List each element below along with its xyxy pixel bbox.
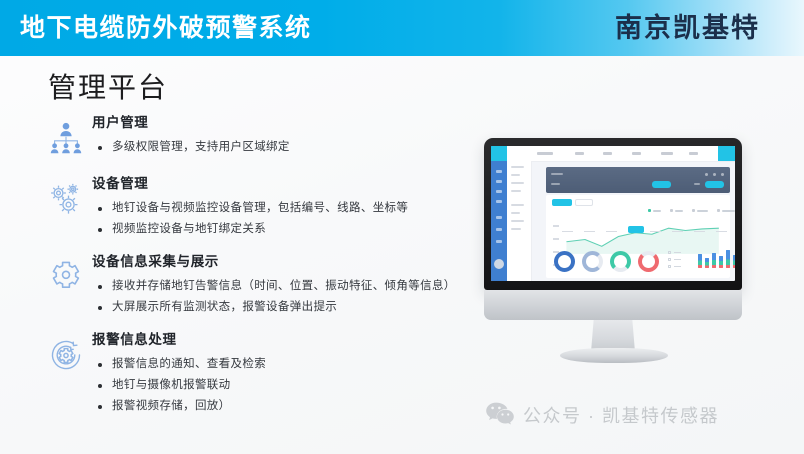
bullet-item: 地钉设备与视频监控设备管理，包括编号、线路、坐标等 [92, 198, 480, 219]
bullet-item: 报警视频存储，回放） [92, 396, 480, 417]
page-title: 管理平台 [48, 70, 168, 106]
feature-heading: 报警信息处理 [92, 330, 480, 349]
monitor-stand-base [560, 348, 668, 363]
bullet-item: 大屏展示所有监测状态，报警设备弹出提示 [92, 297, 480, 318]
org-chart-users-icon [40, 114, 92, 162]
dashboard-chart-panel [546, 195, 730, 278]
topbar-action-button [718, 146, 735, 161]
bullet-item: 多级权限管理，支持用户区域绑定 [92, 137, 480, 158]
feature-body: 设备管理 地钉设备与视频监控设备管理，包括编号、线路、坐标等 视频监控设备与地钉… [92, 173, 480, 240]
sidebar-nav-dot [496, 228, 502, 231]
monitor-chin [484, 290, 742, 320]
feature-list: 用户管理 多级权限管理，支持用户区域绑定 [40, 112, 480, 428]
chart-tooltip [628, 226, 644, 233]
feature-bullets: 报警信息的通知、查看及检索 地钉与摄像机报警联动 报警视频存储，回放） [92, 354, 480, 417]
page-header-title: 地下电缆防外破预警系统 [20, 11, 312, 45]
feature-body: 用户管理 多级权限管理，支持用户区域绑定 [92, 112, 480, 158]
feature-bullets: 地钉设备与视频监控设备管理，包括编号、线路、坐标等 视频监控设备与地钉绑定关系 [92, 198, 480, 240]
feature-item-device-management: 设备管理 地钉设备与视频监控设备管理，包括编号、线路、坐标等 视频监控设备与地钉… [40, 173, 480, 240]
feature-item-user-management: 用户管理 多级权限管理，支持用户区域绑定 [40, 112, 480, 162]
sidebar-nav-dot [496, 180, 502, 183]
sidebar-nav-dot [496, 240, 502, 243]
company-brand-name: 南京凯基特 [615, 10, 760, 46]
dashboard-submenu [507, 146, 532, 281]
donut-gauge [638, 251, 659, 272]
donut-gauge [554, 251, 575, 272]
bullet-item: 视频监控设备与地钉绑定关系 [92, 219, 480, 240]
feature-bullets: 接收并存储地钉告警信息（时间、位置、振动特征、倾角等信息） 大屏展示所有监测状态… [92, 276, 480, 318]
desktop-monitor-illustration [478, 138, 778, 368]
feature-body: 设备信息采集与展示 接收并存储地钉告警信息（时间、位置、振动特征、倾角等信息） … [92, 251, 480, 318]
feature-heading: 设备信息采集与展示 [92, 252, 480, 271]
sidebar-nav-dot [496, 170, 502, 173]
watermark: 公众号 · 凯基特传感器 [486, 402, 719, 430]
dashboard-summary-card [546, 167, 730, 193]
dashboard-topbar [531, 146, 735, 162]
gear-in-circle-process-icon [40, 331, 92, 379]
slide-header: 地下电缆防外破预警系统 南京凯基特 [0, 0, 804, 56]
feature-heading: 用户管理 [92, 113, 480, 132]
feature-item-alarm-handling: 报警信息处理 报警信息的通知、查看及检索 地钉与摄像机报警联动 报警视频存储，回… [40, 329, 480, 417]
feature-bullets: 多级权限管理，支持用户区域绑定 [92, 137, 480, 158]
sidebar-nav-dot [496, 200, 502, 203]
dashboard-sidebar [491, 146, 507, 281]
single-gear-icon [40, 253, 92, 301]
feature-item-data-collection: 设备信息采集与展示 接收并存储地钉告警信息（时间、位置、振动特征、倾角等信息） … [40, 251, 480, 318]
bullet-item: 接收并存储地钉告警信息（时间、位置、振动特征、倾角等信息） [92, 276, 480, 297]
feature-body: 报警信息处理 报警信息的通知、查看及检索 地钉与摄像机报警联动 报警视频存储，回… [92, 329, 480, 417]
monitor-screen [491, 146, 735, 281]
sidebar-avatar [494, 259, 504, 269]
donut-gauge [610, 251, 631, 272]
donut-gauge [582, 251, 603, 272]
sidebar-nav-dot [496, 216, 502, 219]
feature-heading: 设备管理 [92, 174, 480, 193]
dashboard-logo [491, 146, 507, 161]
monitor-bezel [484, 138, 742, 290]
bullet-item: 地钉与摄像机报警联动 [92, 375, 480, 396]
multiple-gears-icon [40, 175, 92, 223]
bullet-item: 报警信息的通知、查看及检索 [92, 354, 480, 375]
wechat-icon [486, 402, 514, 430]
watermark-text: 公众号 · 凯基特传感器 [523, 404, 719, 428]
slide-root: 地下电缆防外破预警系统 南京凯基特 管理平台 [0, 0, 804, 454]
sidebar-nav-dot [496, 190, 502, 193]
